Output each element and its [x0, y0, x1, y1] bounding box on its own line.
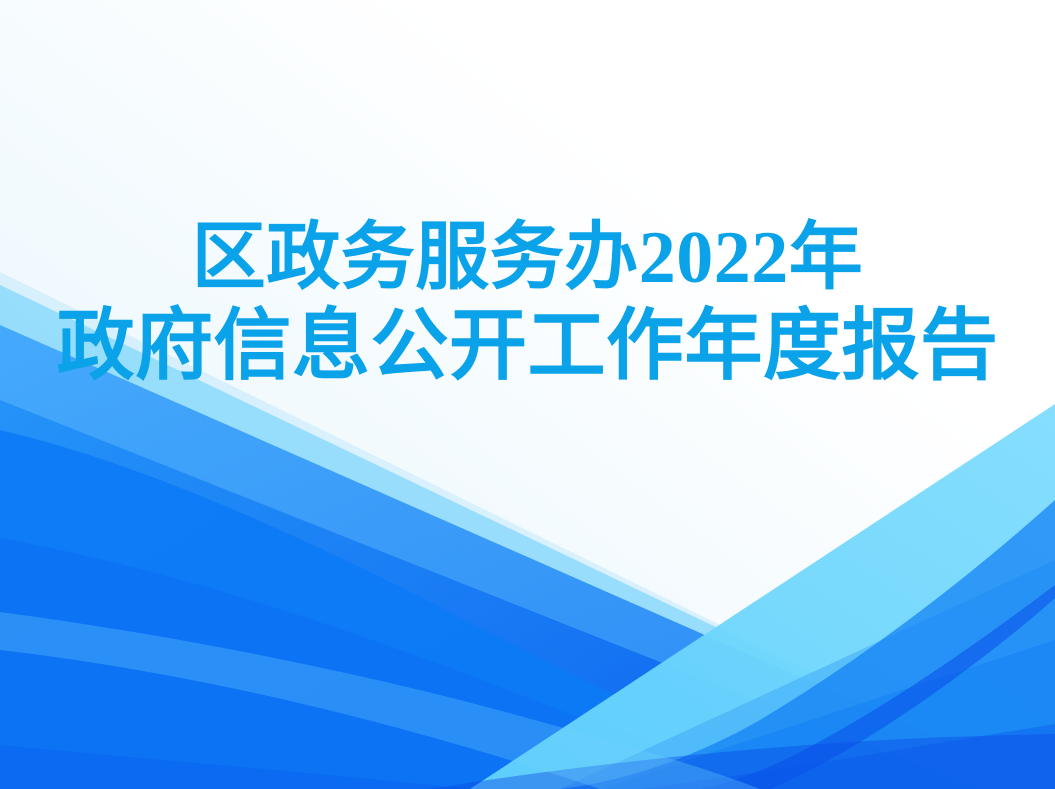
title-line-1: 区政务服务办2022年 [0, 218, 1055, 299]
slide-title: 区政务服务办2022年 政府信息公开工作年度报告 [0, 218, 1055, 389]
title-slide: 区政务服务办2022年 政府信息公开工作年度报告 [0, 0, 1055, 789]
decorative-wave-background [0, 0, 1055, 789]
title-line-2: 政府信息公开工作年度报告 [0, 303, 1055, 389]
